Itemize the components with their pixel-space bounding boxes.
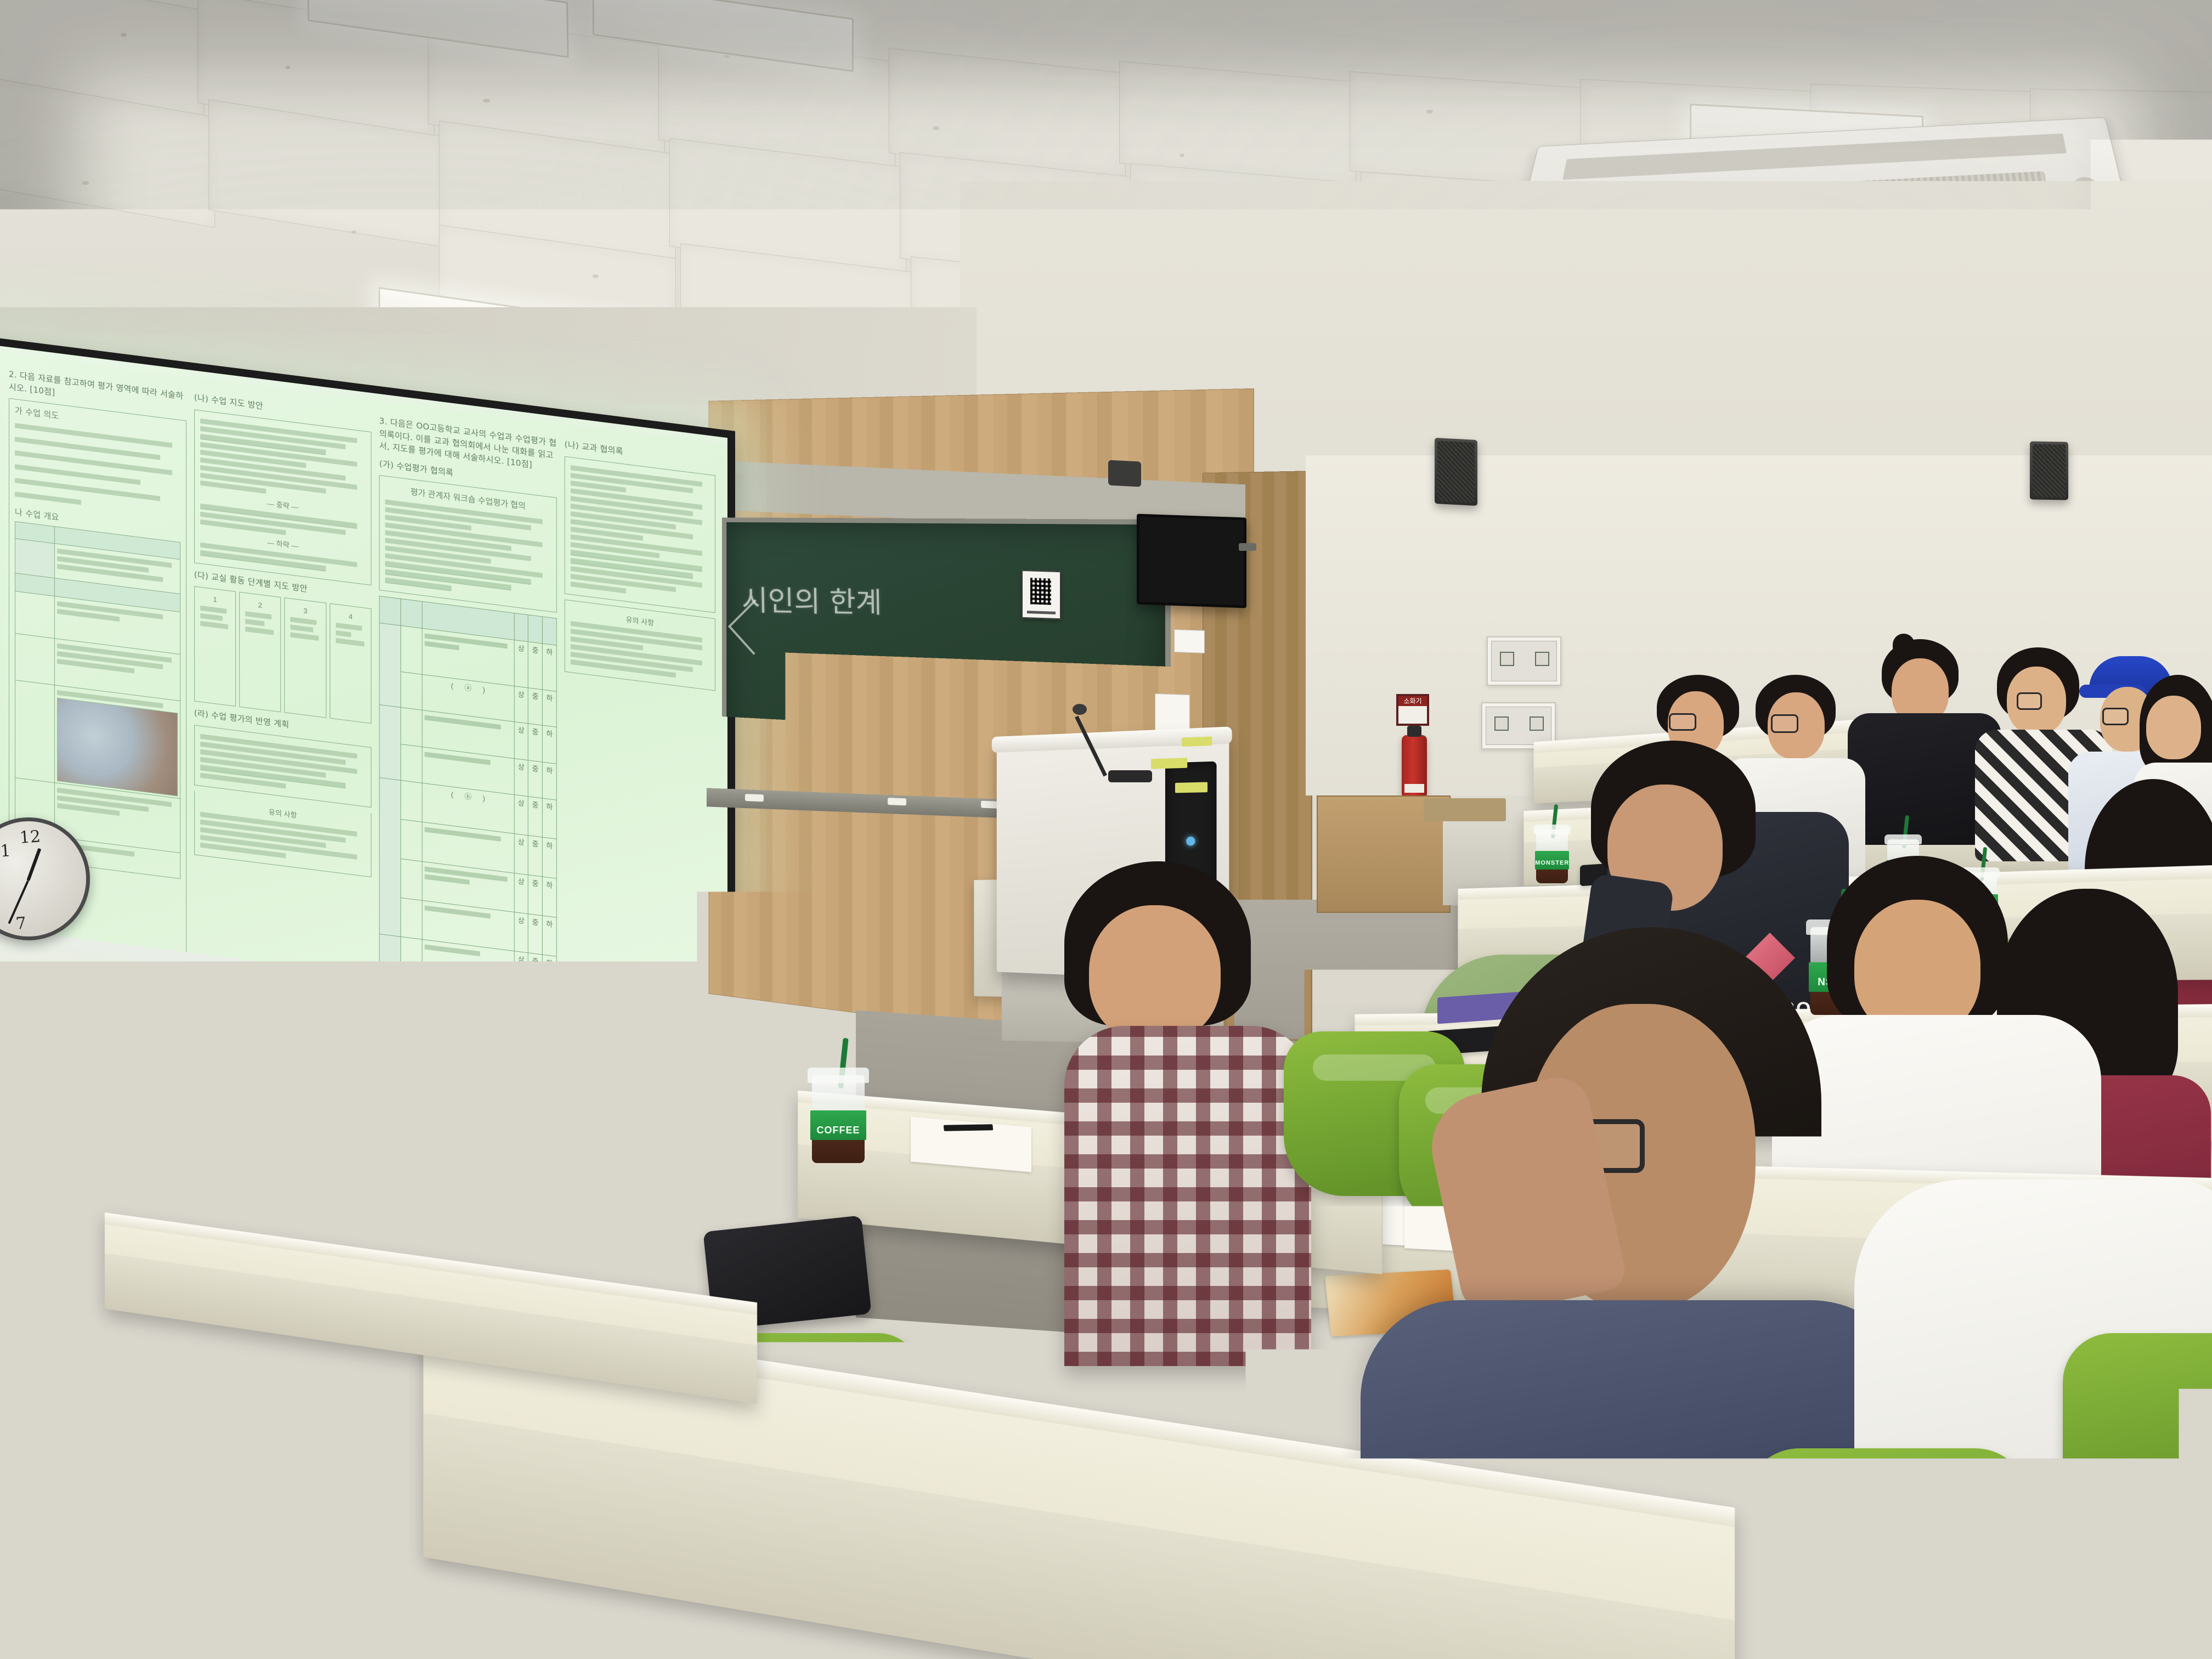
shoe [1443,1591,1558,1651]
fire-extinguisher-label [1404,784,1424,793]
chalk-piece [745,794,764,802]
clock-numeral-12: 12 [19,827,42,848]
wall-monitor[interactable] [1137,514,1246,608]
classroom-chair[interactable] [1745,1448,2030,1659]
qr-code-icon [1030,578,1051,605]
wall-notice [1174,629,1205,653]
cup-sleeve-text: COFFEE [810,1125,866,1136]
slide-rubric-table: 상중하 ( ⓐ )상중하 상중하 상중하 ( ⓑ )상중하 상중하 상중하 상중… [379,596,557,1001]
slide-stage-grid: 1 2 3 4 [194,586,372,724]
slide-dialogue-box [565,456,715,613]
fire-extinguisher-nozzle [1407,726,1421,737]
ceiling-camera-icon [1108,460,1141,487]
slide-column-4: (나) 교과 협의록 유의 사항 [565,438,715,1022]
lectern-sticker [1151,758,1187,769]
chalkboard-text: 시인의 한계 [741,577,923,641]
clock-numeral-7: 7 [15,914,26,934]
cup-sleeve-text: MONSTER [1535,860,1568,866]
lecture-hall-photo: 2. 다음 자료를 참고하여 평가 영역에 따라 서술하시오. [10점] 가 … [0,0,2212,1659]
slide-mid-box-top: — 중략 — — 하략 — [194,409,372,585]
slide-column-2: (나) 수업 지도 방안 — 중략 — — 하략 — [194,391,372,978]
clock-hour-hand [26,848,41,881]
projected-slide: 2. 다음 자료를 참고하여 평가 영역에 따라 서술하시오. [10점] 가 … [0,352,727,1037]
lectern-sticker [1182,736,1212,747]
pen [944,1124,994,1131]
fire-sign-label: 소화기 [1398,696,1427,706]
plaid-shirt [1064,1026,1311,1366]
coffee-cup: COFFEE [812,1075,865,1163]
qr-caption-bar [1027,611,1056,614]
coffee-cup: MONSTER [1536,830,1568,883]
slide-right-box: 평가 관계자 워크숍 수업평가 협의 [379,475,557,613]
projection-screen-surface: 2. 다음 자료를 참고하여 평가 영역에 따라 서술하시오. [10점] 가 … [0,346,727,1152]
monitor-mount-arm [1239,543,1256,551]
fire-extinguisher [1402,735,1427,797]
chalk-piece [888,798,906,805]
clock-numeral-11: 11 [0,841,12,862]
qr-poster [1022,570,1061,620]
wall-control-panel[interactable] [1487,636,1561,686]
classroom-chair[interactable] [33,1448,340,1640]
wall-speaker [2030,441,2068,500]
wall-speaker [1435,438,1477,506]
slide-column-3: 3. 다음은 OO고등학교 교사의 수업과 수업평가 협의록이다. 이를 교과 … [379,415,557,1001]
classroom-chair[interactable] [2063,1333,2212,1531]
fire-extinguisher-sign: 소화기 [1396,694,1429,726]
cardboard-box [1424,798,1506,821]
microphone-icon [1073,704,1087,715]
power-indicator-icon [1186,837,1195,846]
lectern-mic-clip [1108,770,1152,782]
backpack-floor [1273,1569,1454,1651]
slide-note-box-right: 유의 사항 [565,599,715,691]
